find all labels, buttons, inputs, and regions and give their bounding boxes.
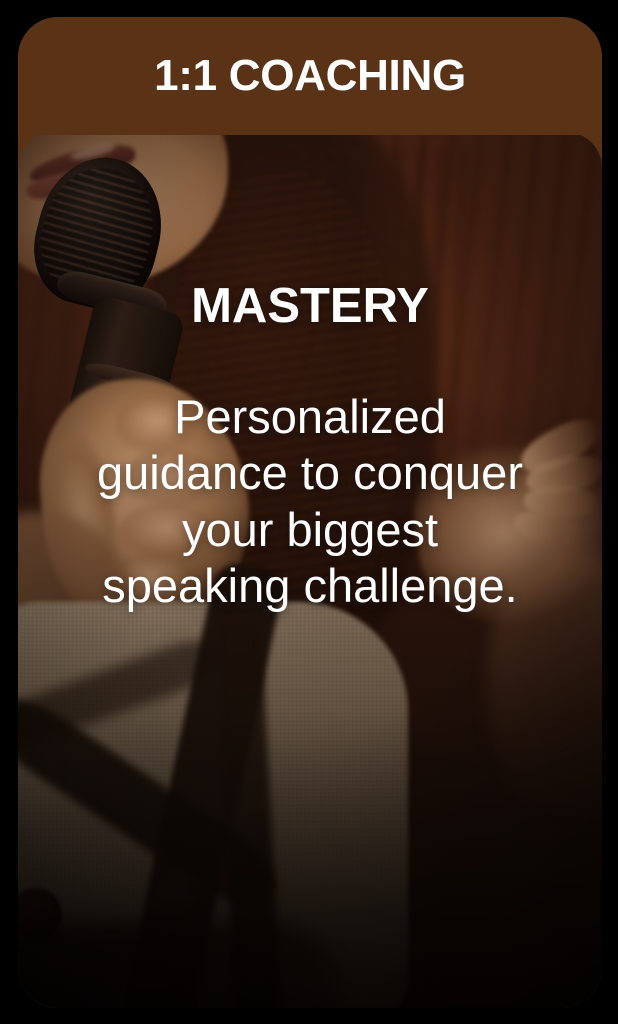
coaching-card[interactable]: 1:1 COACHING: [18, 17, 602, 1008]
card-header-title: 1:1 COACHING: [154, 54, 466, 98]
card-photo: [18, 132, 602, 1008]
card-header-bar: 1:1 COACHING: [18, 17, 602, 135]
photo-vignette: [18, 132, 602, 1008]
